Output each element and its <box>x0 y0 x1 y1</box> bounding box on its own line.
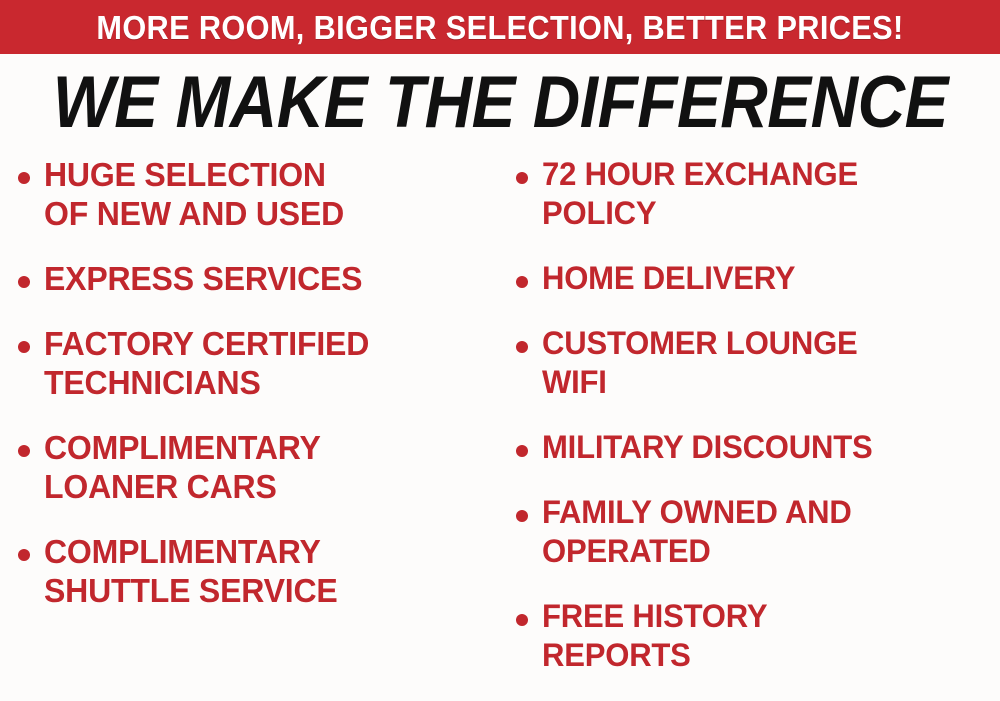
bullet-dot-icon <box>18 549 30 561</box>
list-item: COMPLIMENTARY SHUTTLE SERVICE <box>18 532 496 610</box>
list-item-label: FAMILY OWNED AND OPERATED <box>542 493 852 571</box>
promotional-poster: MORE ROOM, BIGGER SELECTION, BETTER PRIC… <box>0 0 1000 694</box>
list-item-label: FACTORY CERTIFIED TECHNICIANS <box>44 324 369 402</box>
list-item-label: HOME DELIVERY <box>542 259 795 298</box>
bullet-dot-icon <box>516 341 528 353</box>
list-item-label: EXPRESS SERVICES <box>44 259 362 298</box>
list-item: 72 HOUR EXCHANGE POLICY <box>516 155 998 233</box>
bullet-dot-icon <box>18 341 30 353</box>
bullet-dot-icon <box>516 510 528 522</box>
page-title: WE MAKE THE DIFFERENCE <box>52 66 947 139</box>
top-banner: MORE ROOM, BIGGER SELECTION, BETTER PRIC… <box>0 0 1000 54</box>
bullet-dot-icon <box>516 445 528 457</box>
headline-container: WE MAKE THE DIFFERENCE <box>0 62 1000 142</box>
benefits-column-left: HUGE SELECTION OF NEW AND USED EXPRESS S… <box>0 155 500 636</box>
bullet-dot-icon <box>516 172 528 184</box>
list-item-label: FREE HISTORY REPORTS <box>542 597 767 675</box>
list-item-label: CUSTOMER LOUNGE WIFI <box>542 324 858 402</box>
list-item: HUGE SELECTION OF NEW AND USED <box>18 155 496 233</box>
list-item-label: COMPLIMENTARY LOANER CARS <box>44 428 321 506</box>
list-item: CUSTOMER LOUNGE WIFI <box>516 324 998 402</box>
bullet-dot-icon <box>516 614 528 626</box>
benefits-columns: HUGE SELECTION OF NEW AND USED EXPRESS S… <box>0 155 1000 694</box>
bullet-dot-icon <box>18 276 30 288</box>
list-item: COMPLIMENTARY LOANER CARS <box>18 428 496 506</box>
list-item-label: COMPLIMENTARY SHUTTLE SERVICE <box>44 532 338 610</box>
list-item-label: 72 HOUR EXCHANGE POLICY <box>542 155 858 233</box>
list-item: FACTORY CERTIFIED TECHNICIANS <box>18 324 496 402</box>
list-item: MILITARY DISCOUNTS <box>516 428 998 467</box>
list-item: HOME DELIVERY <box>516 259 998 298</box>
list-item-label: MILITARY DISCOUNTS <box>542 428 872 467</box>
list-item: FREE HISTORY REPORTS <box>516 597 998 675</box>
list-item-label: HUGE SELECTION OF NEW AND USED <box>44 155 344 233</box>
list-item: FAMILY OWNED AND OPERATED <box>516 493 998 571</box>
banner-headline-text: MORE ROOM, BIGGER SELECTION, BETTER PRIC… <box>96 11 903 44</box>
list-item: EXPRESS SERVICES <box>18 259 496 298</box>
bullet-dot-icon <box>18 172 30 184</box>
benefits-column-right: 72 HOUR EXCHANGE POLICY HOME DELIVERY CU… <box>500 155 1000 701</box>
bullet-dot-icon <box>516 276 528 288</box>
bullet-dot-icon <box>18 445 30 457</box>
